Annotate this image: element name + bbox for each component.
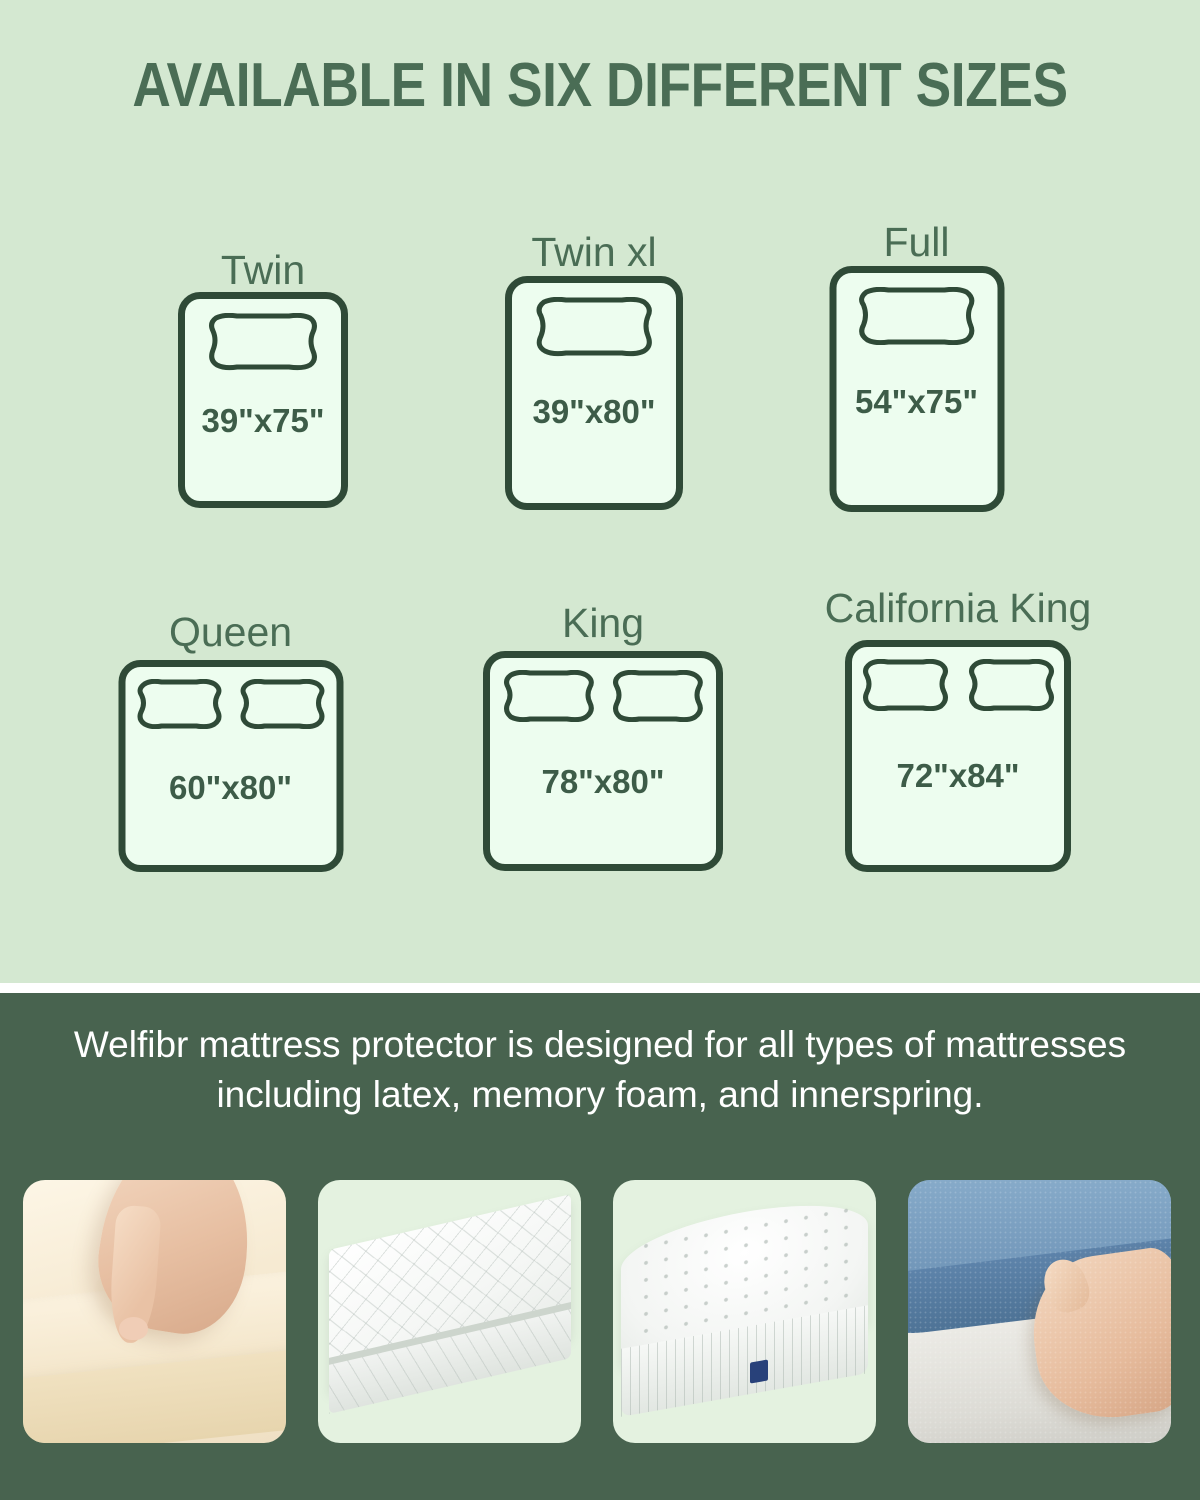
bed-size-grid: Twin 39"x75" Twin xl bbox=[0, 0, 1200, 983]
pillow-icon bbox=[857, 287, 977, 345]
size-dimensions: 54"x75" bbox=[855, 385, 978, 418]
size-label: Full bbox=[883, 222, 949, 263]
size-dimensions: 39"x75" bbox=[201, 404, 324, 437]
section-divider bbox=[0, 983, 1200, 993]
size-dimensions: 78"x80" bbox=[541, 765, 664, 798]
photo-tufted-pillow-top-mattress bbox=[613, 1180, 876, 1443]
size-card-full: Full 54"x75" bbox=[829, 222, 1004, 512]
size-label: Twin bbox=[221, 250, 305, 291]
pillow-group bbox=[512, 297, 676, 357]
pillow-icon bbox=[611, 670, 704, 722]
size-label: Queen bbox=[169, 612, 292, 653]
size-dimensions: 72"x84" bbox=[896, 759, 1019, 792]
pillow-group bbox=[490, 670, 716, 722]
size-label: King bbox=[562, 603, 644, 644]
pillow-icon bbox=[861, 659, 949, 711]
photo-finger-pressing-memory-foam bbox=[23, 1180, 286, 1443]
pillow-icon bbox=[502, 670, 595, 722]
mattress-outline: 78"x80" bbox=[483, 651, 723, 871]
pillow-icon bbox=[967, 659, 1055, 711]
photo-hand-lifting-blue-foam-layer bbox=[908, 1180, 1171, 1443]
size-card-king: King 78"x80" bbox=[483, 603, 723, 871]
photo-quilted-white-mattress bbox=[318, 1180, 581, 1443]
pillow-group bbox=[185, 313, 341, 371]
pillow-icon bbox=[534, 297, 654, 357]
pillow-group bbox=[836, 287, 997, 345]
mattress-brand-tag bbox=[750, 1360, 768, 1384]
size-label: California King bbox=[825, 588, 1092, 629]
size-dimensions: 60"x80" bbox=[169, 771, 292, 804]
photo-strip bbox=[0, 1180, 1200, 1443]
mattress-outline: 39"x80" bbox=[505, 276, 683, 510]
size-card-california-king: California King 72"x84" bbox=[845, 588, 1071, 872]
pillow-icon bbox=[239, 679, 326, 729]
mattress-outline: 39"x75" bbox=[178, 292, 348, 508]
product-description: Welfibr mattress protector is designed f… bbox=[60, 1020, 1140, 1119]
size-card-twin: Twin 39"x75" bbox=[178, 250, 348, 512]
pillow-group bbox=[125, 679, 336, 729]
pillow-icon bbox=[207, 313, 319, 371]
size-card-twin-xl: Twin xl 39"x80" bbox=[505, 232, 683, 512]
size-card-queen: Queen 60"x80" bbox=[118, 612, 343, 872]
mattress-outline: 72"x84" bbox=[845, 640, 1071, 872]
pillow-group bbox=[852, 659, 1064, 711]
mattress-outline: 60"x80" bbox=[118, 660, 343, 872]
size-label: Twin xl bbox=[531, 232, 656, 273]
size-dimensions: 39"x80" bbox=[532, 395, 655, 428]
mattress-outline: 54"x75" bbox=[829, 266, 1004, 512]
product-infographic: AVAILABLE IN SIX DIFFERENT SIZES Twin 39… bbox=[0, 0, 1200, 1500]
pillow-icon bbox=[136, 679, 223, 729]
